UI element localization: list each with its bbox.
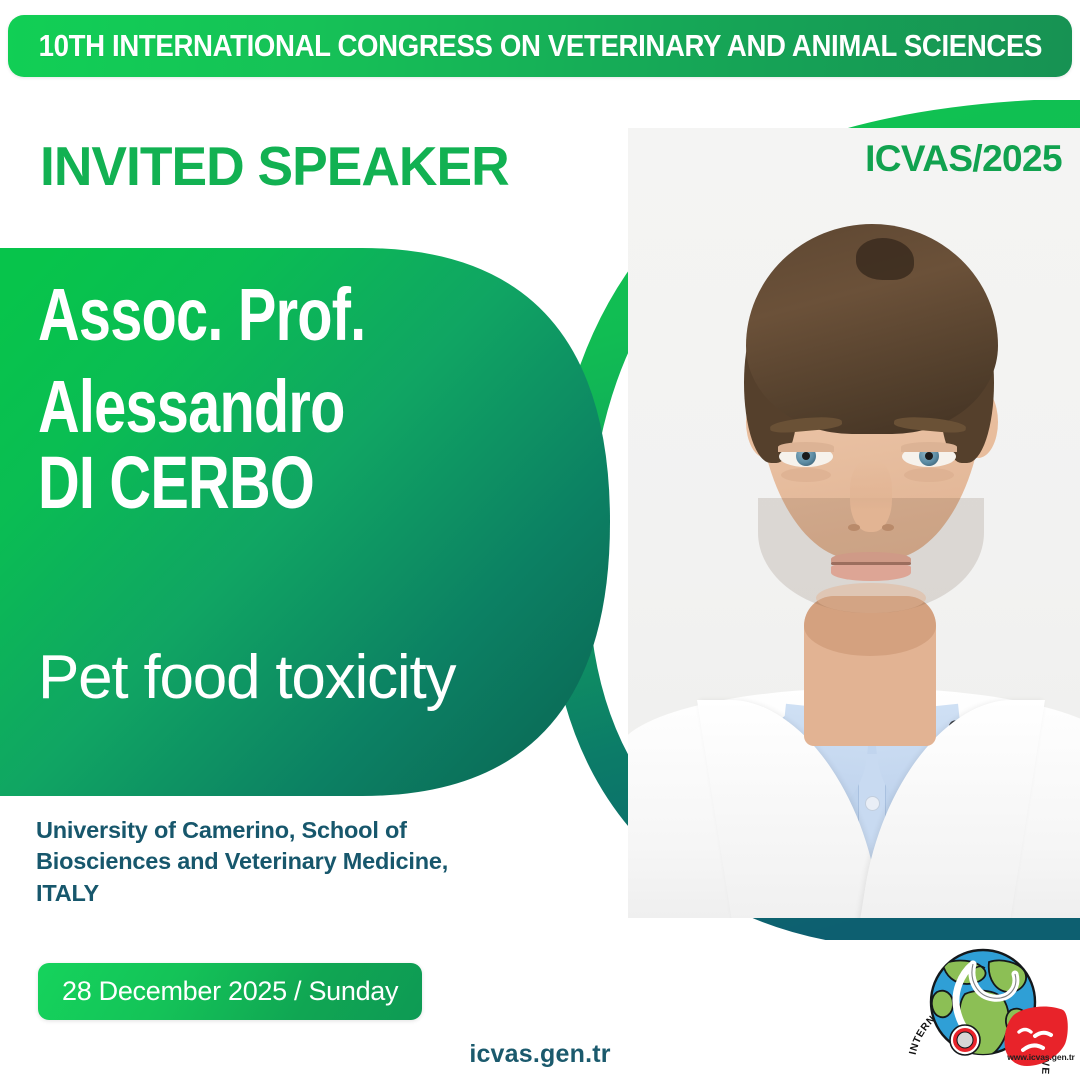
lower-lip bbox=[831, 564, 911, 581]
hair-tuft bbox=[856, 238, 914, 280]
speaker-poster: 10TH INTERNATIONAL CONGRESS ON VETERINAR… bbox=[0, 0, 1080, 1080]
eyelid-right bbox=[901, 442, 957, 452]
edition-label: ICVAS/2025 bbox=[865, 138, 1062, 180]
invited-speaker-label: INVITED SPEAKER bbox=[40, 134, 509, 198]
congress-banner-title: 10TH INTERNATIONAL CONGRESS ON VETERINAR… bbox=[38, 29, 1041, 64]
mouth-line bbox=[831, 562, 911, 565]
nostril-left bbox=[848, 524, 860, 531]
nose bbox=[850, 460, 892, 532]
speaker-firstname: Alessandro bbox=[38, 370, 405, 444]
undereye-left bbox=[781, 468, 831, 482]
nostril-right bbox=[882, 524, 894, 531]
talk-topic: Pet food toxicity bbox=[38, 642, 455, 713]
congress-banner: 10TH INTERNATIONAL CONGRESS ON VETERINAR… bbox=[8, 15, 1072, 77]
shirt-button bbox=[865, 796, 880, 811]
speaker-photo-zone bbox=[530, 110, 1080, 920]
event-date-text: 28 December 2025 / Sunday bbox=[62, 976, 398, 1007]
speaker-name-block: Assoc. Prof. Alessandro DI CERBO bbox=[38, 278, 508, 520]
affiliation-line-2: Biosciences and Veterinary Medicine, bbox=[36, 846, 516, 877]
speaker-affiliation: University of Camerino, School of Biosci… bbox=[36, 815, 516, 909]
website-link[interactable]: icvas.gen.tr bbox=[0, 1040, 1080, 1069]
pupil-left bbox=[802, 452, 810, 460]
pupil-right bbox=[925, 452, 933, 460]
speaker-photo bbox=[628, 128, 1080, 918]
eyelid-left bbox=[778, 442, 834, 452]
speaker-title: Assoc. Prof. bbox=[38, 278, 405, 352]
undereye-right bbox=[904, 468, 954, 482]
chin bbox=[816, 583, 926, 613]
event-date-badge: 28 December 2025 / Sunday bbox=[38, 963, 422, 1020]
affiliation-line-1: University of Camerino, School of bbox=[36, 815, 516, 846]
speaker-lastname: DI CERBO bbox=[38, 446, 405, 520]
affiliation-line-3: ITALY bbox=[36, 878, 516, 909]
